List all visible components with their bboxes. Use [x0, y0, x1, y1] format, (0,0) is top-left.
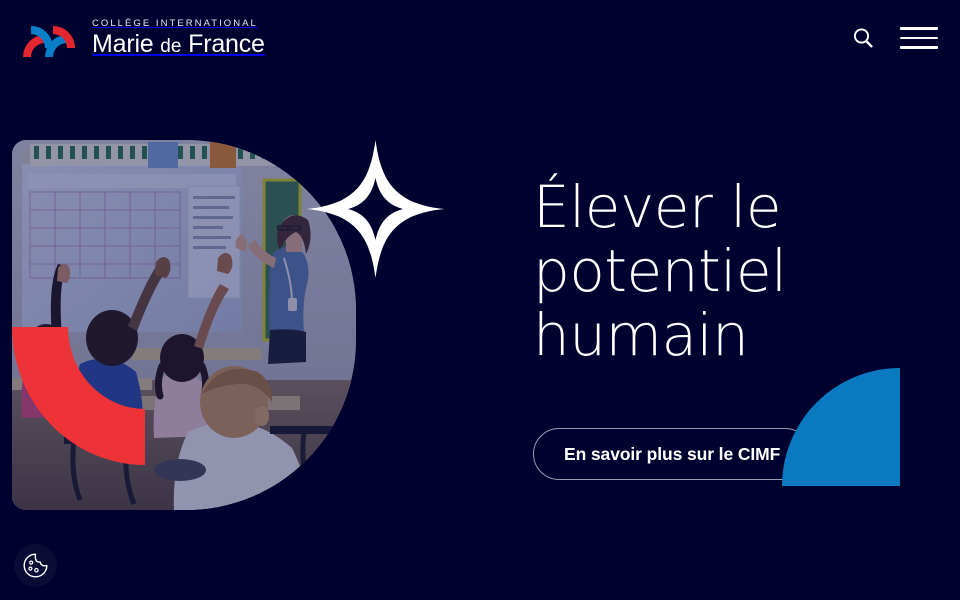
- page-title: Élever le potentiel humain: [533, 175, 933, 367]
- brand-name-france: France: [188, 30, 265, 58]
- marie-de-france-m-logo-icon: [20, 18, 80, 58]
- hero-image-tint: [12, 140, 356, 510]
- menu-button[interactable]: [900, 27, 938, 49]
- hamburger-menu-icon: [900, 27, 938, 49]
- hero-cta-button[interactable]: En savoir plus sur le CIMF: [533, 428, 811, 480]
- brand-name-de: de: [160, 36, 181, 57]
- brand-kicker: COLLÈGE INTERNATIONAL: [92, 19, 265, 29]
- cookie-icon: [22, 552, 49, 579]
- search-icon: [852, 27, 874, 49]
- hero-image: [12, 140, 356, 510]
- hero-title-line-3: humain: [533, 303, 933, 367]
- hero-title-line-2: potentiel: [533, 239, 933, 303]
- hero-title-line-1: Élever le: [533, 175, 933, 239]
- header-actions: [852, 27, 938, 49]
- hero-section: Élever le potentiel humain En savoir plu…: [0, 0, 960, 600]
- brand-name: Marie de France: [92, 31, 265, 57]
- cookie-preferences-button[interactable]: [14, 544, 57, 587]
- brand-logo-link[interactable]: COLLÈGE INTERNATIONAL Marie de France: [20, 18, 265, 58]
- site-header: COLLÈGE INTERNATIONAL Marie de France: [0, 0, 960, 76]
- page-root: COLLÈGE INTERNATIONAL Marie de France: [0, 0, 960, 600]
- hero-copy: Élever le potentiel humain: [533, 175, 933, 367]
- brand-wordmark: COLLÈGE INTERNATIONAL Marie de France: [92, 19, 265, 58]
- search-button[interactable]: [852, 27, 874, 49]
- brand-name-marie: Marie: [92, 30, 154, 58]
